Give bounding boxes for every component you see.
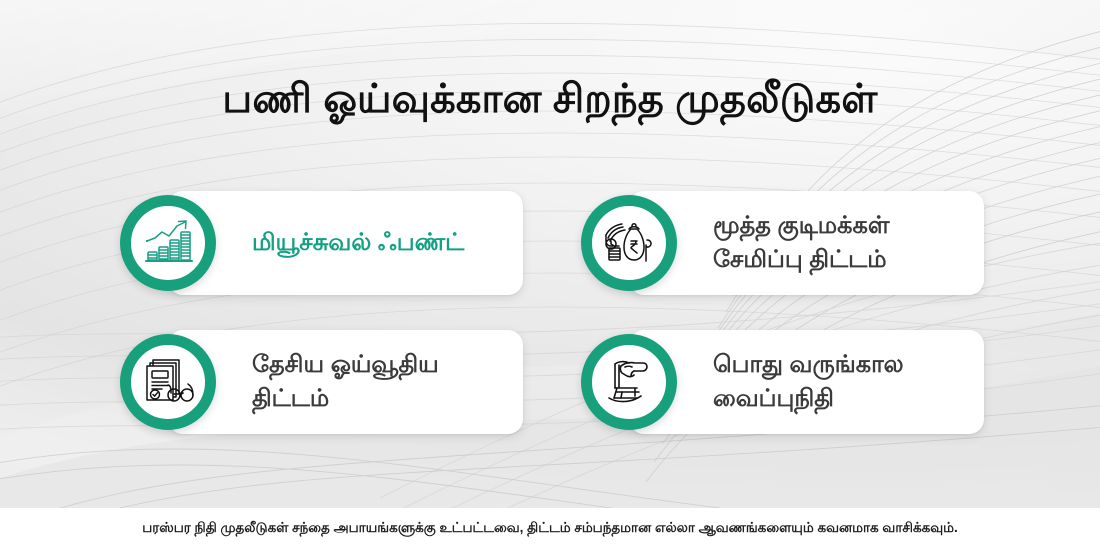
card-public-provident-fund[interactable]: பொது வருங்கால வைப்புநிதி [579,327,984,437]
card-label: தேசிய ஓய்வூதிய திட்டம் [252,327,520,437]
disclaimer-text: பரஸ்பர நிதி முதலீடுகள் சந்தை அபாயங்களுக்… [142,520,958,538]
investment-card-grid: மியூச்சுவல் ஃபண்ட் [118,188,984,437]
growth-bar-chart-coins-icon [120,195,216,291]
card-label: பொது வருங்கால வைப்புநிதி [713,327,981,437]
card-national-pension-scheme[interactable]: தேசிய ஓய்வூதிய திட்டம் [118,327,523,437]
infographic-slide: பணி ஓய்வுக்கான சிறந்த முதலீடுகள் [0,0,1100,550]
rocking-chair-hand-icon [581,334,677,430]
card-row-1: மியூச்சுவல் ஃபண்ட் [118,188,984,298]
money-bag-hand-coins-cane-icon [581,195,677,291]
card-label: மூத்த குடிமக்கள் சேமிப்பு திட்டம் [713,188,981,298]
documents-eyeglasses-icon [120,334,216,430]
footer-bar: பரஸ்பர நிதி முதலீடுகள் சந்தை அபாயங்களுக்… [0,508,1100,550]
card-mutual-fund[interactable]: மியூச்சுவல் ஃபண்ட் [118,188,523,298]
page-title: பணி ஓய்வுக்கான சிறந்த முதலீடுகள் [0,74,1100,125]
card-senior-citizens-savings-scheme[interactable]: மூத்த குடிமக்கள் சேமிப்பு திட்டம் [579,188,984,298]
card-label: மியூச்சுவல் ஃபண்ட் [252,188,520,298]
card-row-2: தேசிய ஓய்வூதிய திட்டம் [118,327,984,437]
